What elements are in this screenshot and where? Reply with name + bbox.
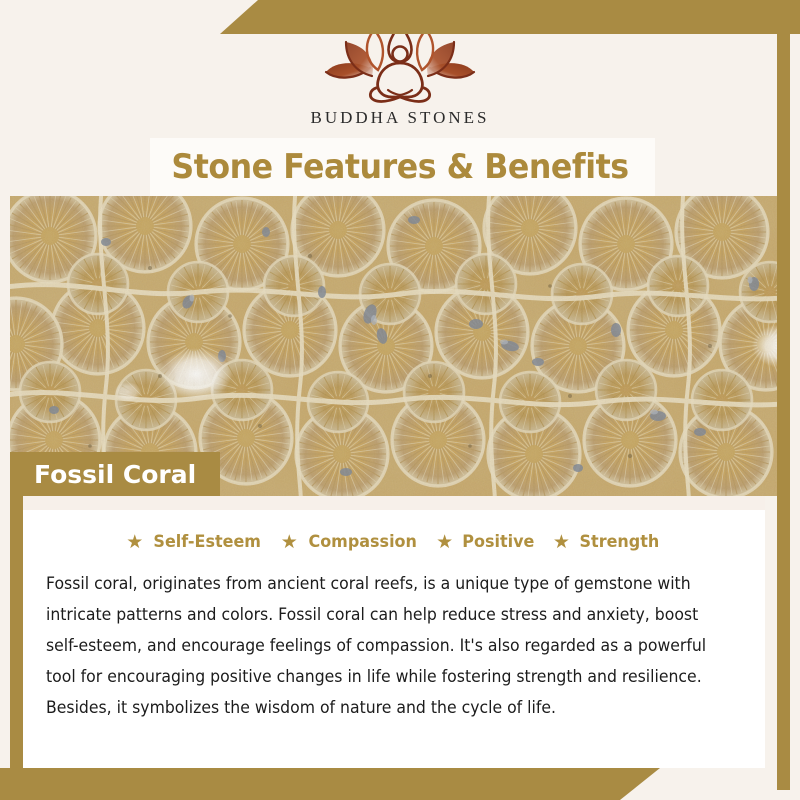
stone-photo (10, 196, 790, 496)
benefit-item: ★ Strength (553, 532, 662, 552)
frame-left-gold-bar (10, 460, 23, 790)
star-icon: ★ (126, 533, 143, 552)
frame-bottom-gold-band (0, 768, 660, 800)
star-icon: ★ (436, 533, 453, 552)
stone-name-banner: Fossil Coral (10, 452, 220, 496)
benefits-row: ★ Self-Esteem ★ Compassion ★ Positive ★ … (23, 532, 765, 552)
star-icon: ★ (553, 533, 570, 552)
benefit-item: ★ Positive (436, 532, 537, 552)
benefit-label: Compassion (308, 532, 416, 552)
infographic-page: BUDDHA STONES Stone Features & Benefits (0, 0, 800, 800)
page-title: Stone Features & Benefits (28, 143, 772, 191)
description-card-top-edge (23, 496, 765, 510)
fossil-coral-texture-image (10, 196, 790, 496)
brand-logo: BUDDHA STONES (0, 18, 800, 138)
stone-name-label: Fossil Coral (34, 460, 196, 489)
benefit-label: Strength (579, 532, 659, 552)
benefit-label: Self-Esteem (154, 532, 262, 552)
benefit-item: ★ Compassion (281, 532, 420, 552)
frame-top-gold-band (220, 0, 800, 34)
star-icon: ★ (281, 533, 298, 552)
benefit-item: ★ Self-Esteem (126, 532, 264, 552)
stone-description: Fossil coral, originates from ancient co… (46, 568, 711, 723)
benefit-label: Positive (462, 532, 534, 552)
brand-name: BUDDHA STONES (311, 108, 490, 128)
frame-right-gold-bar (777, 30, 790, 790)
